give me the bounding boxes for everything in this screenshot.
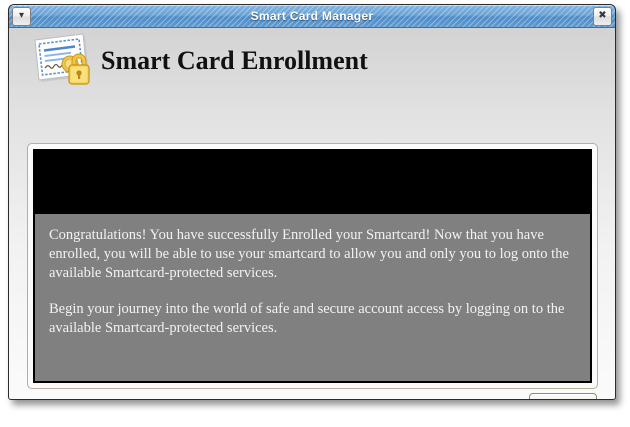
page-header: Smart Card Enrollment (9, 28, 615, 90)
close-button[interactable]: Close (529, 393, 597, 400)
message-paragraph: Congratulations! You have successfully E… (49, 226, 576, 283)
window-title: Smart Card Manager (34, 9, 590, 23)
page-title: Smart Card Enrollment (101, 46, 368, 76)
message-paragraph: Begin your journey into the world of saf… (49, 300, 576, 338)
certificate-lock-icon (27, 32, 95, 90)
window-body: Smart Card Enrollment Congratulations! Y… (9, 28, 615, 400)
window-close-button[interactable]: ✖ (593, 7, 612, 26)
message-text-pane: Congratulations! You have successfully E… (35, 214, 590, 381)
enrollment-message-box: Congratulations! You have successfully E… (33, 149, 592, 383)
content-group-panel: Congratulations! You have successfully E… (27, 143, 598, 389)
window-titlebar[interactable]: ▾ Smart Card Manager ✖ (9, 5, 615, 28)
chevron-down-icon: ▾ (19, 11, 24, 21)
close-icon: ✖ (598, 11, 606, 21)
message-header-band (35, 151, 590, 214)
smart-card-manager-window: ▾ Smart Card Manager ✖ (8, 4, 616, 400)
window-menu-button[interactable]: ▾ (12, 7, 31, 26)
dialog-footer: Close (9, 393, 615, 400)
